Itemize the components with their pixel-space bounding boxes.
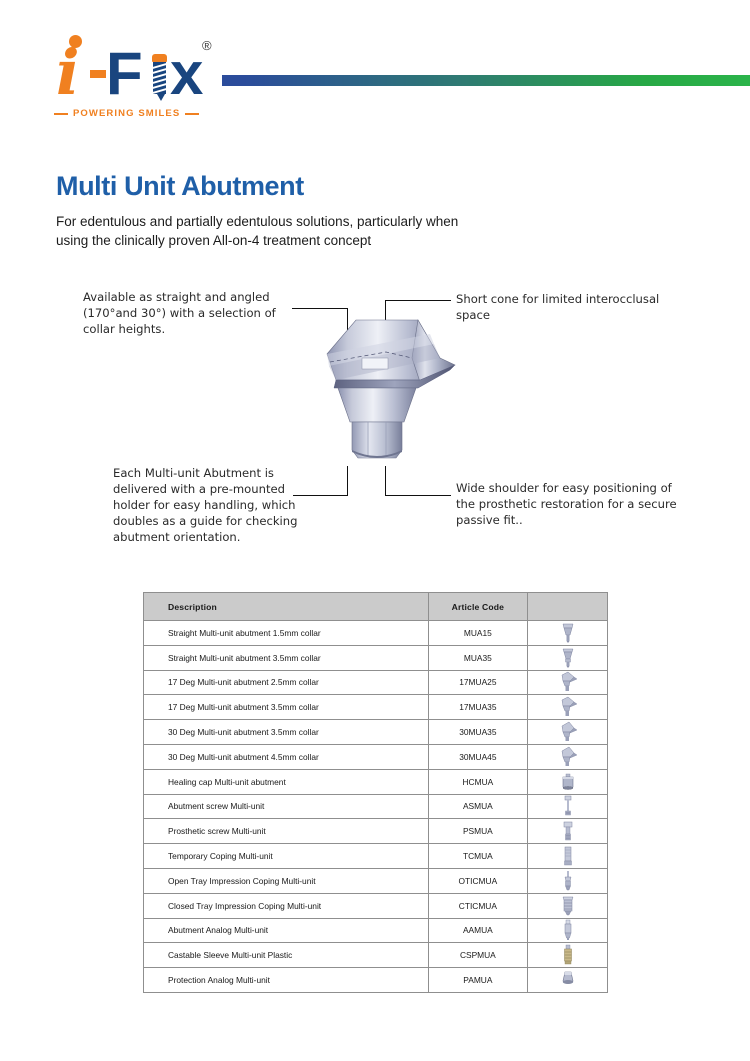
screw-body	[153, 62, 166, 94]
callout-wide-shoulder: Wide shoulder for easy positioning of th…	[456, 481, 681, 529]
cell-article-code: PSMUA	[428, 819, 528, 844]
cell-product-image	[528, 720, 608, 745]
cell-description: 17 Deg Multi-unit abutment 2.5mm collar	[144, 670, 429, 695]
table-row[interactable]: 30 Deg Multi-unit abutment 4.5mm collar …	[144, 744, 608, 769]
product-table-container: Description Article Code Straight Multi-…	[143, 592, 608, 993]
cell-product-image	[528, 868, 608, 893]
table-row[interactable]: 30 Deg Multi-unit abutment 3.5mm collar …	[144, 720, 608, 745]
protection-analog-icon	[554, 969, 582, 991]
tagline-rule-right	[185, 113, 199, 115]
screw-icon	[152, 54, 167, 102]
screw-head	[152, 54, 167, 62]
column-header-article-code: Article Code	[428, 593, 528, 621]
cell-article-code: MUA35	[428, 645, 528, 670]
screw-icon	[555, 795, 581, 817]
cell-product-image	[528, 844, 608, 869]
leader-line-bottom-right-h	[385, 495, 451, 496]
cell-description: 17 Deg Multi-unit abutment 3.5mm collar	[144, 695, 429, 720]
closed-tray-coping-icon	[555, 895, 581, 917]
cell-description: Straight Multi-unit abutment 1.5mm colla…	[144, 621, 429, 646]
page-header: i F x ® POWERING SMILES	[0, 0, 750, 150]
cell-product-image	[528, 794, 608, 819]
multi-unit-abutment-illustration	[300, 310, 475, 470]
product-diagram: Available as straight and angled (170°an…	[0, 270, 750, 570]
healing-cap-icon	[555, 771, 581, 793]
analog-icon	[555, 919, 581, 941]
cell-article-code: AAMUA	[428, 918, 528, 943]
table-row[interactable]: Healing cap Multi-unit abutment HCMUA	[144, 769, 608, 794]
column-header-description: Description	[144, 593, 429, 621]
leader-line-bottom-left-h	[293, 495, 348, 496]
cell-description: Protection Analog Multi-unit	[144, 968, 429, 993]
cell-article-code: PAMUA	[428, 968, 528, 993]
cell-product-image	[528, 943, 608, 968]
table-row[interactable]: Protection Analog Multi-unit PAMUA	[144, 968, 608, 993]
cell-description: Abutment Analog Multi-unit	[144, 918, 429, 943]
table-row[interactable]: Castable Sleeve Multi-unit Plastic CSPMU…	[144, 943, 608, 968]
cell-article-code: OTICMUA	[428, 868, 528, 893]
prosthetic-screw-icon	[555, 820, 581, 842]
product-table: Description Article Code Straight Multi-…	[143, 592, 608, 993]
logo-letter-f: F	[106, 44, 143, 104]
logo-tagline: POWERING SMILES	[54, 108, 219, 119]
cell-product-image	[528, 819, 608, 844]
table-row[interactable]: 17 Deg Multi-unit abutment 2.5mm collar …	[144, 670, 608, 695]
table-body: Straight Multi-unit abutment 1.5mm colla…	[144, 621, 608, 993]
table-row[interactable]: 17 Deg Multi-unit abutment 3.5mm collar …	[144, 695, 608, 720]
cell-article-code: 17MUA25	[428, 670, 528, 695]
open-tray-coping-icon	[555, 870, 581, 892]
cell-description: Abutment screw Multi-unit	[144, 794, 429, 819]
cell-description: Closed Tray Impression Coping Multi-unit	[144, 893, 429, 918]
registered-trademark-icon: ®	[202, 38, 212, 53]
leader-line-top-left-h	[292, 308, 348, 309]
cell-description: Temporary Coping Multi-unit	[144, 844, 429, 869]
logo-letter-x: x	[170, 44, 203, 104]
title-section: Multi Unit Abutment For edentulous and p…	[56, 172, 616, 250]
tagline-text: POWERING SMILES	[73, 108, 180, 119]
logo-wordmark: i F x ®	[54, 28, 219, 100]
logo-hyphen	[90, 70, 106, 78]
callout-short-cone: Short cone for limited interocclusal spa…	[456, 292, 671, 324]
cell-product-image	[528, 621, 608, 646]
cell-product-image	[528, 968, 608, 993]
tagline-rule-left	[54, 113, 68, 115]
leader-line-bottom-right-v	[385, 466, 386, 496]
table-row[interactable]: Abutment screw Multi-unit ASMUA	[144, 794, 608, 819]
leader-line-top-right-h	[385, 300, 451, 301]
cell-article-code: HCMUA	[428, 769, 528, 794]
cell-description: Open Tray Impression Coping Multi-unit	[144, 868, 429, 893]
cell-article-code: ASMUA	[428, 794, 528, 819]
cell-article-code: 17MUA35	[428, 695, 528, 720]
abutment-straight-icon	[555, 647, 581, 669]
cell-product-image	[528, 744, 608, 769]
table-row[interactable]: Straight Multi-unit abutment 3.5mm colla…	[144, 645, 608, 670]
cell-description: Healing cap Multi-unit abutment	[144, 769, 429, 794]
abutment-angled-icon	[555, 696, 581, 718]
table-row[interactable]: Straight Multi-unit abutment 1.5mm colla…	[144, 621, 608, 646]
table-row[interactable]: Temporary Coping Multi-unit TCMUA	[144, 844, 608, 869]
table-header-row: Description Article Code	[144, 593, 608, 621]
screw-tip	[157, 94, 165, 101]
brand-logo: i F x ® POWERING SMILES	[54, 28, 219, 133]
header-gradient-bar	[222, 75, 750, 86]
cell-product-image	[528, 645, 608, 670]
cell-description: Straight Multi-unit abutment 3.5mm colla…	[144, 645, 429, 670]
cell-article-code: 30MUA45	[428, 744, 528, 769]
logo-letter-i: i	[56, 42, 78, 104]
cell-product-image	[528, 918, 608, 943]
callout-pre-mounted-holder: Each Multi-unit Abutment is delivered wi…	[113, 466, 325, 546]
table-row[interactable]: Closed Tray Impression Coping Multi-unit…	[144, 893, 608, 918]
cell-description: 30 Deg Multi-unit abutment 4.5mm collar	[144, 744, 429, 769]
cell-description: Prosthetic screw Multi-unit	[144, 819, 429, 844]
cell-description: 30 Deg Multi-unit abutment 3.5mm collar	[144, 720, 429, 745]
cell-article-code: CSPMUA	[428, 943, 528, 968]
column-header-image	[528, 593, 608, 621]
page-title: Multi Unit Abutment	[56, 172, 616, 202]
cell-article-code: CTICMUA	[428, 893, 528, 918]
table-row[interactable]: Open Tray Impression Coping Multi-unit O…	[144, 868, 608, 893]
abutment-angled-icon	[555, 671, 581, 693]
cell-product-image	[528, 695, 608, 720]
cell-product-image	[528, 769, 608, 794]
cell-product-image	[528, 670, 608, 695]
cell-description: Castable Sleeve Multi-unit Plastic	[144, 943, 429, 968]
abutment-angled-icon	[555, 746, 581, 768]
table-row[interactable]: Abutment Analog Multi-unit AAMUA	[144, 918, 608, 943]
abutment-straight-icon	[555, 622, 581, 644]
abutment-angled-icon	[555, 721, 581, 743]
cell-product-image	[528, 893, 608, 918]
page-subtitle: For edentulous and partially edentulous …	[56, 212, 476, 250]
cell-article-code: MUA15	[428, 621, 528, 646]
callout-angles-and-collars: Available as straight and angled (170°an…	[83, 290, 293, 338]
cell-article-code: TCMUA	[428, 844, 528, 869]
temporary-coping-icon	[555, 845, 581, 867]
cell-article-code: 30MUA35	[428, 720, 528, 745]
table-row[interactable]: Prosthetic screw Multi-unit PSMUA	[144, 819, 608, 844]
castable-sleeve-icon	[555, 944, 581, 966]
leader-line-bottom-left-v	[347, 466, 348, 496]
